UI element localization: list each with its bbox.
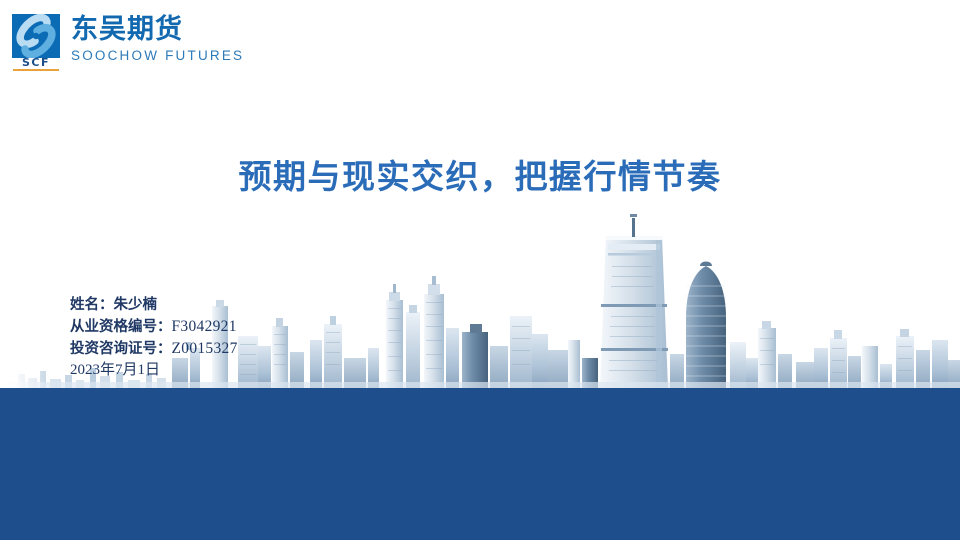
consulting-label: 投资咨询证号： (70, 341, 172, 357)
presenter-name-label: 姓名： (70, 297, 114, 313)
logo-mark: SCF (12, 14, 60, 72)
presenter-name-value: 朱少楠 (114, 297, 158, 313)
presenter-info: 姓名：朱少楠 从业资格编号：F3042921 投资咨询证号：Z0015327 2… (70, 294, 238, 381)
page-title: 预期与现实交织，把握行情节奏 (0, 156, 960, 198)
logo-wordmark: 东吴期货 SOOCHOW FUTURES (71, 14, 244, 64)
qualification-label: 从业资格编号： (70, 319, 172, 335)
bottom-blue-band (0, 388, 960, 540)
presentation-date: 2023年7月1日 (70, 360, 238, 381)
company-name-en: SOOCHOW FUTURES (71, 48, 244, 64)
qualification-value: F3042921 (172, 318, 237, 335)
presenter-consulting-row: 投资咨询证号：Z0015327 (70, 338, 238, 360)
presenter-qualification-row: 从业资格编号：F3042921 (70, 316, 238, 338)
logo-mark-text: SCF (12, 57, 60, 68)
scf-swirl-logo-icon (12, 14, 60, 58)
title-slide: SCF 东吴期货 SOOCHOW FUTURES (0, 0, 960, 540)
presenter-name-row: 姓名：朱少楠 (70, 294, 238, 316)
company-name-cn: 东吴期货 (71, 15, 244, 45)
logo-gold-rule (13, 69, 59, 71)
company-logo: SCF 东吴期货 SOOCHOW FUTURES (12, 14, 244, 72)
consulting-value: Z0015327 (172, 340, 238, 357)
